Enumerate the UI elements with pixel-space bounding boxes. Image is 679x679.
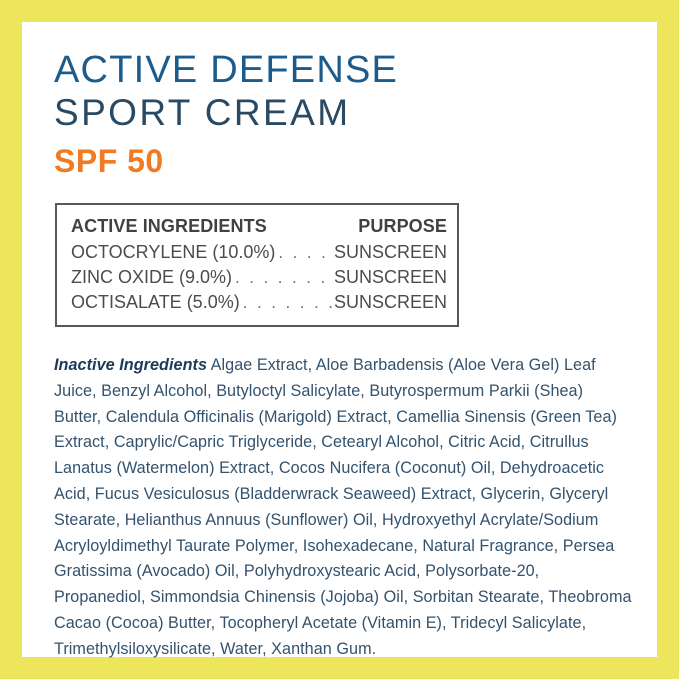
active-ingredients-table: ACTIVE INGREDIENTS PURPOSE OCTOCRYLENE (… bbox=[55, 203, 459, 327]
table-row: OCTISALATE (5.0%) . . . . . . . . . . . … bbox=[71, 290, 447, 315]
ingredient-purpose: SUNSCREEN bbox=[334, 265, 447, 290]
ingredient-purpose: SUNSCREEN bbox=[334, 290, 447, 315]
column-header-active-ingredients: ACTIVE INGREDIENTS bbox=[71, 214, 267, 239]
column-header-purpose: PURPOSE bbox=[358, 214, 447, 239]
inactive-ingredients-paragraph: Inactive Ingredients Algae Extract, Aloe… bbox=[54, 353, 632, 663]
product-label-card: ACTIVE DEFENSE SPORT CREAM SPF 50 ACTIVE… bbox=[0, 0, 679, 679]
label-content-area: ACTIVE DEFENSE SPORT CREAM SPF 50 ACTIVE… bbox=[22, 22, 657, 657]
table-row: ZINC OXIDE (9.0%) . . . . . . . . . . . … bbox=[71, 265, 447, 290]
product-subtitle: SPORT CREAM bbox=[54, 90, 627, 135]
ingredient-name: OCTISALATE (5.0%) bbox=[71, 290, 240, 315]
ingredient-purpose: SUNSCREEN bbox=[334, 240, 447, 265]
table-header-row: ACTIVE INGREDIENTS PURPOSE bbox=[71, 214, 447, 239]
page-title: ACTIVE DEFENSE bbox=[54, 48, 627, 92]
inactive-ingredients-heading: Inactive Ingredients bbox=[54, 356, 207, 374]
spf-rating: SPF 50 bbox=[54, 141, 627, 181]
dot-leader: . . . . . . . . . . . . . bbox=[232, 265, 334, 290]
inactive-ingredients-list: Algae Extract, Aloe Barbadensis (Aloe Ve… bbox=[54, 356, 632, 658]
ingredient-name: OCTOCRYLENE (10.0%) bbox=[71, 240, 275, 265]
product-title-block: ACTIVE DEFENSE SPORT CREAM SPF 50 bbox=[54, 48, 627, 181]
ingredient-name: ZINC OXIDE (9.0%) bbox=[71, 265, 232, 290]
table-row: OCTOCRYLENE (10.0%) . . . . . . . . . . … bbox=[71, 240, 447, 265]
dot-leader: . . . . . . . . . . bbox=[275, 240, 334, 265]
dot-leader: . . . . . . . . . . . . . bbox=[240, 290, 334, 315]
